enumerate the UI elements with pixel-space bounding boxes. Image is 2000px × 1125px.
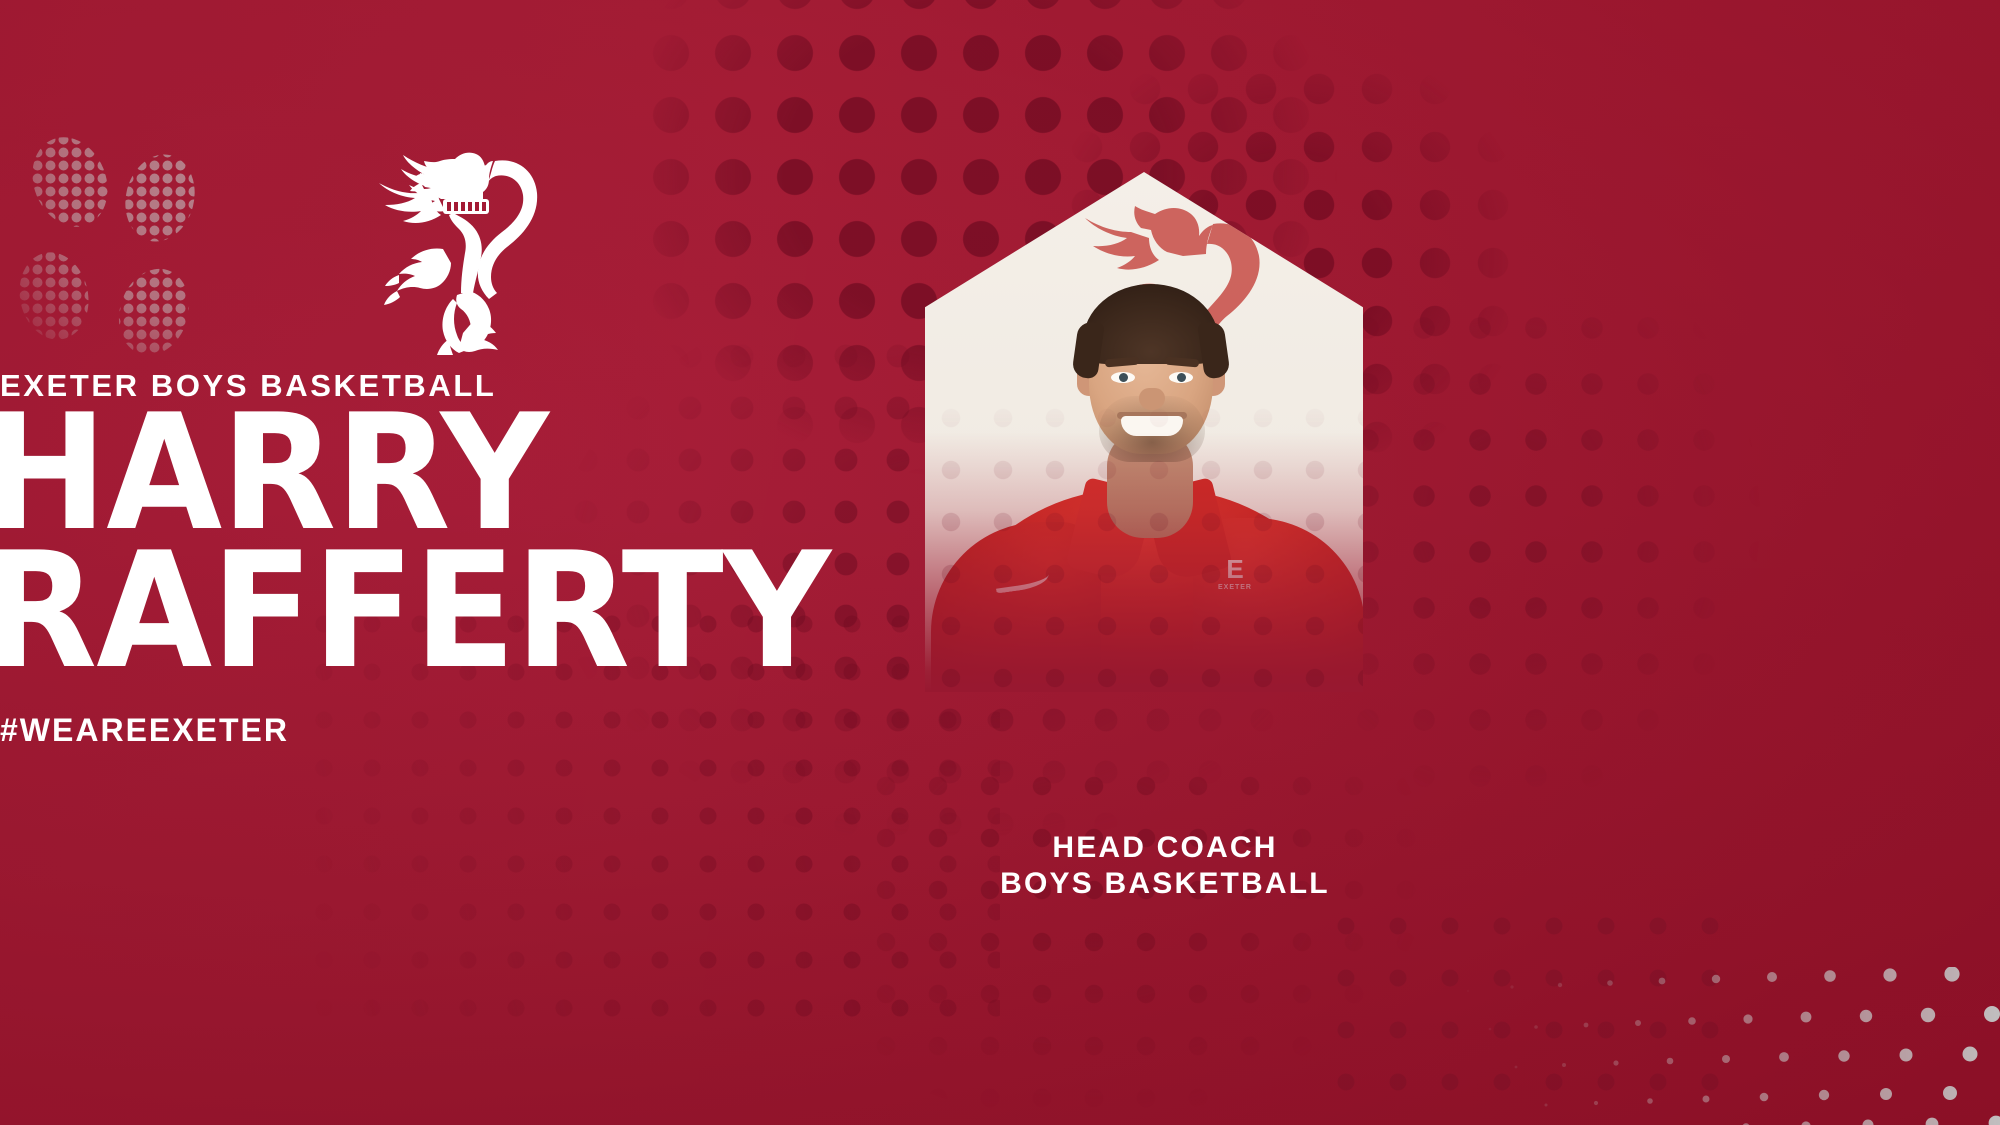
rampant-lion-icon (357, 143, 557, 355)
role-title: HEAD COACH (925, 830, 1405, 866)
paw-print-halftone-icon (0, 120, 252, 380)
portrait-pupil-left (1119, 373, 1128, 382)
coach-role: HEAD COACH BOYS BASKETBALL (925, 830, 1405, 902)
role-team: BOYS BASKETBALL (925, 866, 1405, 902)
portrait-pupil-right (1177, 373, 1186, 382)
coach-name: HARRY RAFFERTY (0, 404, 900, 679)
coach-last-name: RAFFERTY (0, 542, 918, 680)
hashtag: #WEAREEXETER (0, 712, 900, 749)
halftone-dots-icon (925, 392, 1363, 692)
coach-announcement-graphic: EXETER BOYS BASKETBALL HARRY RAFFERTY #W… (0, 0, 2000, 1125)
